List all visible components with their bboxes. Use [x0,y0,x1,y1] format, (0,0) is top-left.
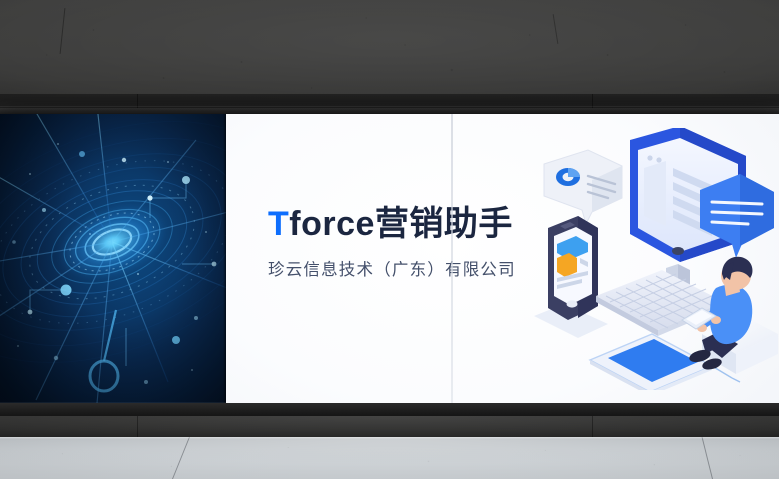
floor-texture [0,437,779,479]
tech-artwork-panel [0,114,226,403]
plinth-seam-right [592,416,593,438]
smartphone [534,216,608,338]
plinth-seam-left [137,416,138,438]
artwork-vignette [0,114,226,403]
brand-name-rest: force营销助手 [289,205,513,243]
chat-bubble-chart-icon [544,150,622,224]
back-wall [0,0,779,100]
floor-top-edge [0,437,779,439]
isometric-illustration [526,128,778,390]
brand-initial: T [268,205,289,243]
content-panel: Tforce营销助手 珍云信息技术（广东）有限公司 [226,114,779,403]
billboard-plinth [0,416,779,438]
page-title: Tforce营销助手 [268,207,516,241]
billboard-scene: Tforce营销助手 珍云信息技术（广东）有限公司 [0,0,779,479]
frame-top-highlight [0,106,779,107]
company-subtitle: 珍云信息技术（广东）有限公司 [268,256,516,280]
panel-divider [451,114,453,403]
floor [0,437,779,479]
headline-block: Tforce营销助手 珍云信息技术（广东）有限公司 [268,207,516,280]
wall-texture [0,0,779,100]
billboard-display[interactable]: Tforce营销助手 珍云信息技术（广东）有限公司 [0,114,779,403]
billboard-frame-bottom [0,403,779,416]
workspace-graphic [526,128,778,390]
